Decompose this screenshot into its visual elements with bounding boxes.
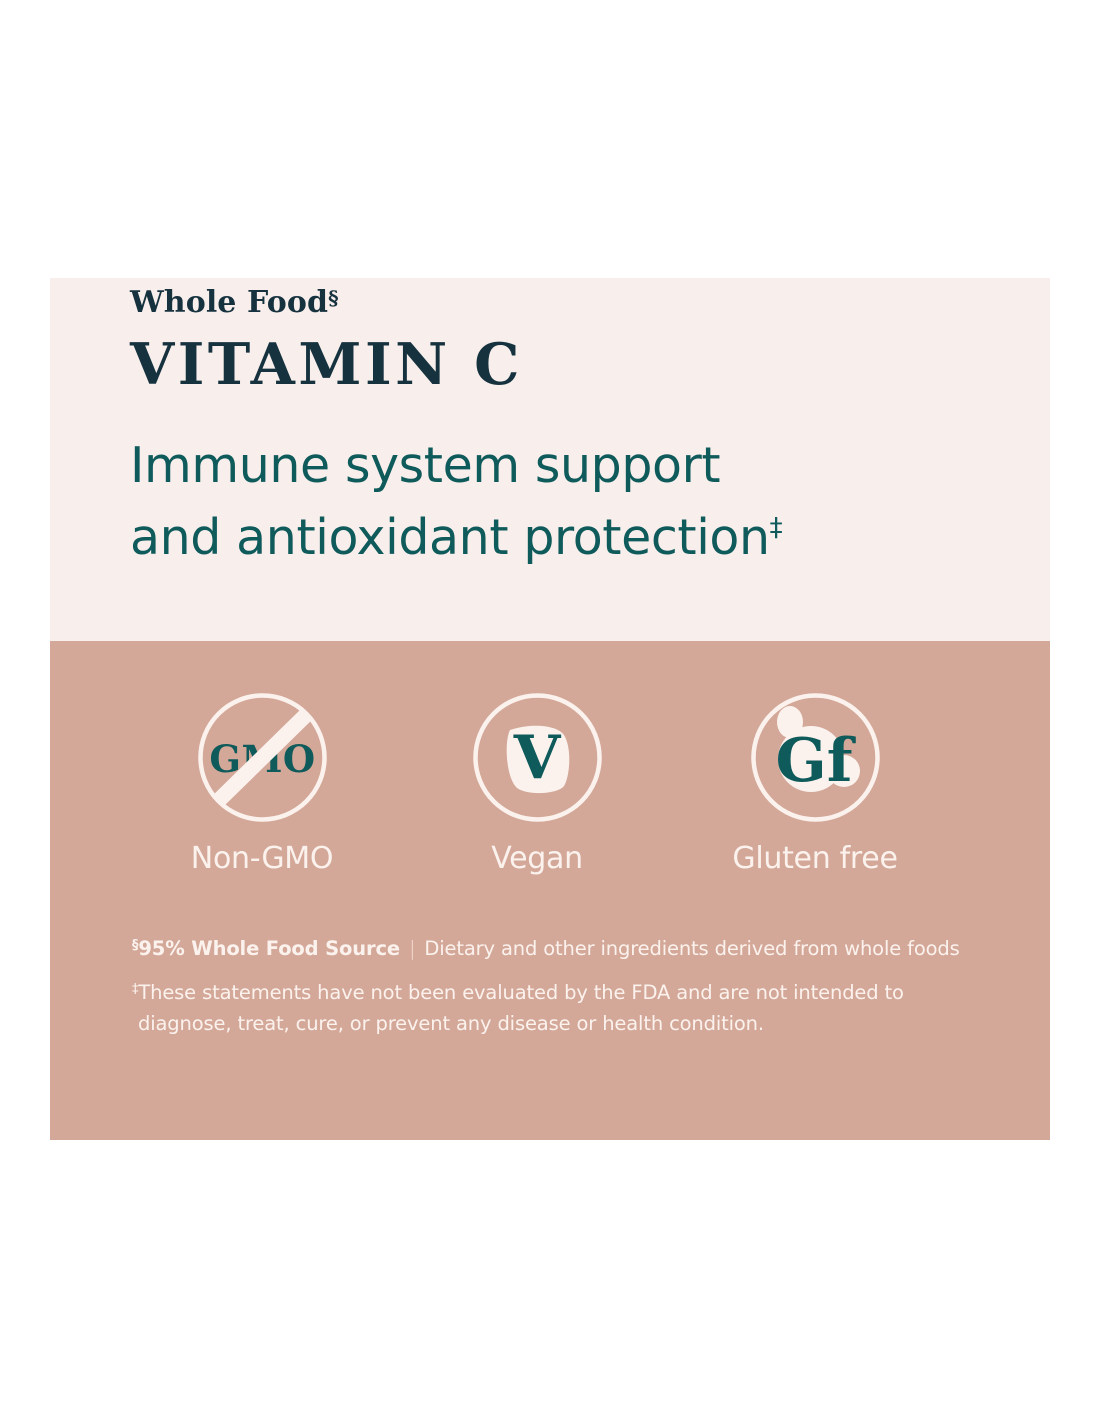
attributes-panel: GMO Non-GMO V Vegan (50, 641, 1050, 1140)
no-gmo-icon: GMO (197, 692, 328, 823)
product-info-panel: Whole Food§ VITAMIN C Immune system supp… (50, 278, 1050, 1140)
badge-row: GMO Non-GMO V Vegan (140, 692, 940, 907)
footnote-source-rest: Dietary and other ingredients derived fr… (424, 937, 959, 960)
disclaimer-line-1: These statements have not been evaluated… (138, 981, 903, 1004)
headline-claim: Immune system supportand antioxidant pro… (130, 430, 1010, 573)
footnote-fda-disclaimer: ‡These statements have not been evaluate… (132, 978, 992, 1038)
headline-line-2: and antioxidant protection (130, 509, 770, 566)
disclaimer-line-2: diagnose, treat, cure, or prevent any di… (132, 1009, 992, 1039)
footnotes: §95% Whole Food Source|Dietary and other… (132, 936, 992, 1039)
eyebrow-whole-food: Whole Food§ (130, 285, 339, 320)
headline-footnote-marker: ‡ (770, 513, 783, 543)
badge-non-gmo: GMO Non-GMO (172, 692, 352, 876)
vegan-leaf-icon: V (472, 692, 603, 823)
page-title: VITAMIN C (130, 331, 523, 398)
headline-line-1: Immune system support (130, 437, 720, 494)
footnote-whole-food-source: §95% Whole Food Source|Dietary and other… (132, 936, 992, 961)
footnote-divider: | (400, 936, 424, 961)
svg-text:V: V (512, 723, 561, 793)
headline-panel: Whole Food§ VITAMIN C Immune system supp… (50, 278, 1050, 641)
badge-label-vegan: Vegan (447, 841, 627, 876)
badge-label-non-gmo: Non-GMO (172, 841, 352, 876)
eyebrow-text: Whole Food (130, 285, 328, 320)
badge-vegan: V Vegan (447, 692, 627, 876)
eyebrow-footnote-marker: § (328, 286, 339, 310)
footnote-source-strong: 95% Whole Food Source (138, 937, 400, 960)
badge-label-gluten-free: Gluten free (725, 841, 905, 876)
gluten-free-icon: Gf (750, 692, 881, 823)
badge-gluten-free: Gf Gluten free (725, 692, 905, 876)
svg-text:Gf: Gf (775, 726, 856, 796)
